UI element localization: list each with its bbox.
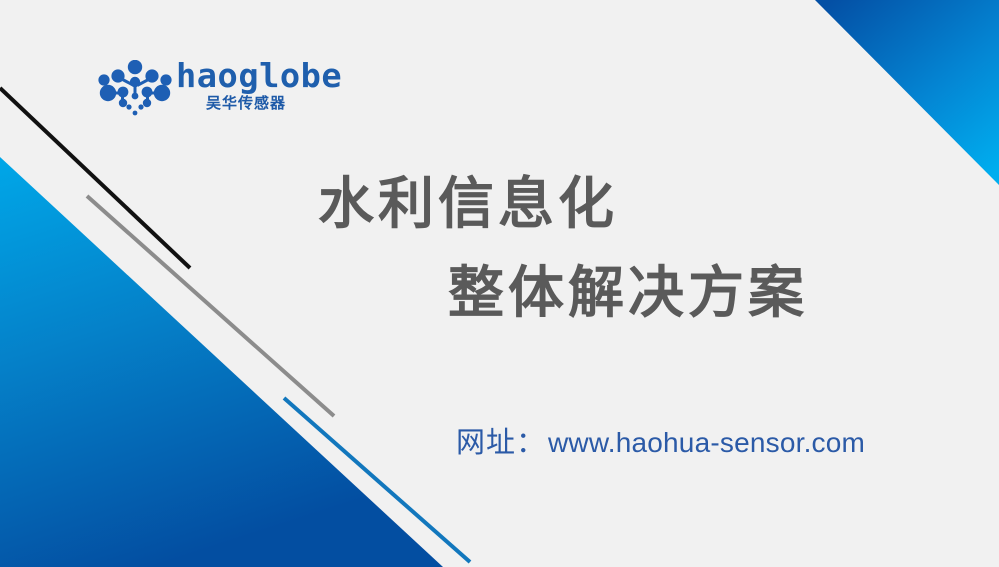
presentation-slide: haoglobe 吴华传感器 水利信息化 整体解决方案 网址：www.haohu… [0,0,999,567]
company-logo: haoglobe 吴华传感器 [96,58,326,120]
logo-subtitle: 吴华传感器 [206,95,286,113]
website-line: 网址：www.haohua-sensor.com [456,420,865,470]
haoglobe-network-dots-icon [96,60,174,118]
title-line-1: 水利信息化 [318,169,618,241]
page-title: 水利信息化 整体解决方案 [0,155,999,355]
website-label: 网址： [456,425,546,459]
logo-wordmark: haoglobe [176,58,342,94]
website-url[interactable]: www.haohua-sensor.com [546,427,865,458]
title-line-2: 整体解决方案 [448,258,808,330]
